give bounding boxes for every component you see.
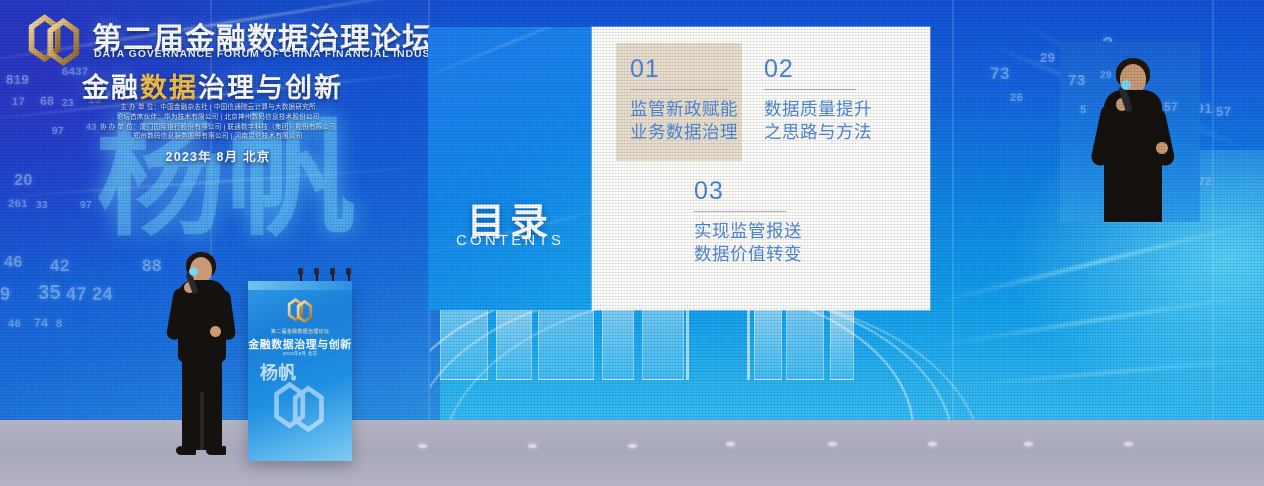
presentation-slide: 01 监管新政赋能 业务数据治理 02 数据质量提升 之思路与方法 03 实现监…	[592, 27, 930, 310]
on-stage-speaker	[160, 252, 250, 462]
forum-hexagon-logo	[26, 12, 82, 70]
floor-light	[726, 442, 735, 446]
subtitle-accent: 数据	[140, 73, 198, 103]
wall-number: 74	[34, 316, 48, 330]
toc-item-02[interactable]: 02 数据质量提升 之思路与方法	[764, 57, 892, 145]
speaker-shoe	[206, 446, 226, 455]
wall-number: 97	[80, 200, 92, 211]
toc-divider	[764, 89, 856, 90]
forum-subtitle: 金融数据治理与创新	[82, 66, 343, 105]
mic-head	[330, 268, 335, 275]
mic-head	[314, 268, 319, 275]
organizer-line: 论坛首席伙伴：华为技术有限公司 | 北京神州数码信息技术股份公司	[18, 111, 418, 121]
feed-number: 73	[1068, 72, 1086, 89]
wall-number: 42	[50, 256, 70, 276]
floor-light	[1124, 442, 1133, 446]
wall-number: 46	[8, 318, 21, 330]
toc-number: 02	[764, 57, 892, 82]
slide-section-label-en: CONTENTS	[428, 232, 592, 249]
forum-title-en: DATA GOVERNANCE FORUM OF CHINA FINANCIAL…	[94, 48, 454, 60]
floor-light	[928, 442, 937, 446]
forum-hexagon-logo	[286, 297, 314, 325]
wall-number: 33	[36, 200, 48, 211]
feed-speaker-hand	[1156, 142, 1168, 154]
feed-number: 57	[1164, 100, 1178, 114]
light-streak	[428, 27, 592, 89]
mic-head	[346, 268, 351, 275]
wall-seam	[1212, 0, 1214, 420]
toc-line-2: 之思路与方法	[764, 121, 892, 144]
wall-number: 88	[142, 256, 162, 276]
organizer-line: 主 办 单 位：中国金融杂志社 | 中国信通院云计算与大数据研究所	[18, 101, 418, 111]
podium-top-edge	[248, 281, 352, 290]
event-title-block: 第二届金融数据治理论坛 DATA GOVERNANCE FORUM OF CHI…	[18, 6, 418, 171]
floor-light	[828, 442, 837, 446]
toc-line-1: 数据质量提升	[764, 98, 892, 121]
speaker-shoe	[176, 446, 196, 455]
toc-line-2: 业务数据治理	[630, 121, 728, 144]
podium-hex-watermark	[270, 379, 328, 437]
toc-line-1: 监管新政赋能	[630, 98, 728, 121]
floor-light	[528, 444, 537, 448]
toc-item-01[interactable]: 01 监管新政赋能 业务数据治理	[616, 43, 742, 161]
microphone-head-icon	[189, 267, 198, 276]
subtitle-suffix: 治理与创新	[198, 73, 343, 103]
wall-number: 47	[66, 284, 87, 305]
speaker-hand	[210, 326, 221, 337]
podium-title-small: 第二届金融数据治理论坛	[248, 328, 352, 335]
live-camera-feed: 73 29 5 972 57 2	[1060, 42, 1200, 222]
slide-section-strip: 目录 CONTENTS	[428, 27, 592, 310]
toc-divider	[694, 211, 786, 212]
microphone-head-icon	[1121, 80, 1131, 90]
toc-number: 01	[630, 57, 728, 82]
podium-subtext: 2023年8月 北京	[248, 351, 352, 357]
feed-number: 5	[1080, 104, 1087, 116]
wall-number: 26	[1010, 92, 1023, 104]
toc-number: 03	[694, 179, 822, 204]
floor-light	[628, 444, 637, 448]
wall-number: 73	[990, 64, 1010, 84]
wall-number: 35	[38, 282, 61, 305]
organizer-line: 郑州数码信息服务股份有限公司 | 河南昆仑技术有限公司	[18, 130, 418, 140]
conference-stage-photo: 杨帆 819 6437 17 68 23 15 4 20 261 33 97 4…	[0, 0, 1264, 486]
floor-light	[1024, 442, 1033, 446]
wall-number: 20	[14, 172, 33, 190]
wall-number: 8	[56, 318, 63, 330]
wall-number: 261	[8, 198, 28, 210]
toc-item-03[interactable]: 03 实现监管报送 数据价值转变	[694, 179, 822, 267]
wall-number: 29	[1040, 50, 1055, 65]
podium-title-big: 金融数据治理与创新	[248, 336, 352, 352]
wall-number: 57	[1216, 104, 1231, 119]
subtitle-prefix: 金融	[82, 73, 140, 103]
wall-number: 46	[4, 254, 23, 272]
toc-divider	[630, 89, 728, 90]
toc-line-1: 实现监管报送	[694, 220, 822, 243]
feed-image: 73 29 5 972 57 2	[1060, 42, 1200, 222]
floor-light	[418, 444, 427, 448]
wall-number: 24	[92, 284, 113, 305]
wall-number: 9	[0, 284, 11, 305]
toc-line-2: 数据价值转变	[694, 243, 822, 266]
event-date-location: 2023年 8月 北京	[18, 146, 418, 165]
mic-head	[298, 268, 303, 275]
trouser-seam	[200, 392, 204, 450]
speaker-podium: 第二届金融数据治理论坛 金融数据治理与创新 2023年8月 北京 杨帆	[248, 281, 352, 461]
feed-number: 29	[1100, 70, 1112, 81]
